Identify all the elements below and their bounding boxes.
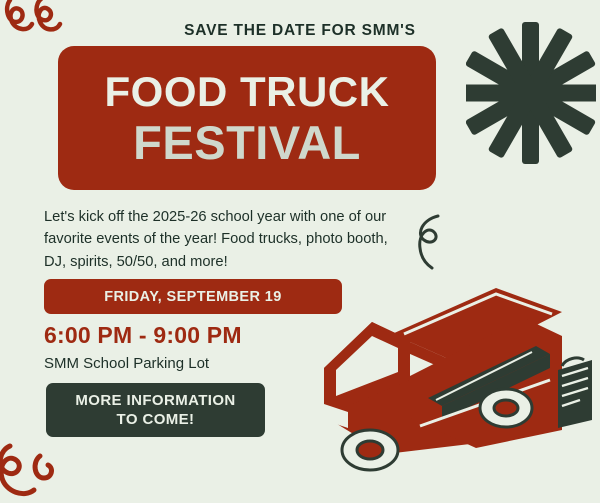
poster-canvas: SAVE THE DATE FOR SMM'S FOOD TRUCK FESTI…	[0, 0, 600, 503]
more-information-button[interactable]: MORE INFORMATION TO COME!	[46, 383, 265, 437]
title-box: FOOD TRUCK FESTIVAL	[58, 46, 436, 190]
save-the-date-heading: SAVE THE DATE FOR SMM'S	[0, 22, 600, 40]
spiral-squiggle-icon	[0, 440, 64, 503]
event-date-label: FRIDAY, SEPTEMBER 19	[104, 289, 281, 305]
event-location: SMM School Parking Lot	[44, 355, 209, 372]
menu-board-icon	[558, 358, 592, 428]
cta-line-2: TO COME!	[117, 410, 195, 430]
starburst-icon	[466, 20, 596, 166]
event-date-badge: FRIDAY, SEPTEMBER 19	[44, 279, 342, 314]
event-time: 6:00 PM - 9:00 PM	[44, 322, 242, 349]
truck-rear-wheel	[480, 389, 532, 427]
title-line-2: FESTIVAL	[133, 119, 361, 166]
title-line-1: FOOD TRUCK	[105, 71, 390, 113]
cta-line-1: MORE INFORMATION	[75, 391, 235, 411]
food-truck-illustration	[300, 248, 600, 498]
truck-front-wheel	[342, 430, 398, 470]
